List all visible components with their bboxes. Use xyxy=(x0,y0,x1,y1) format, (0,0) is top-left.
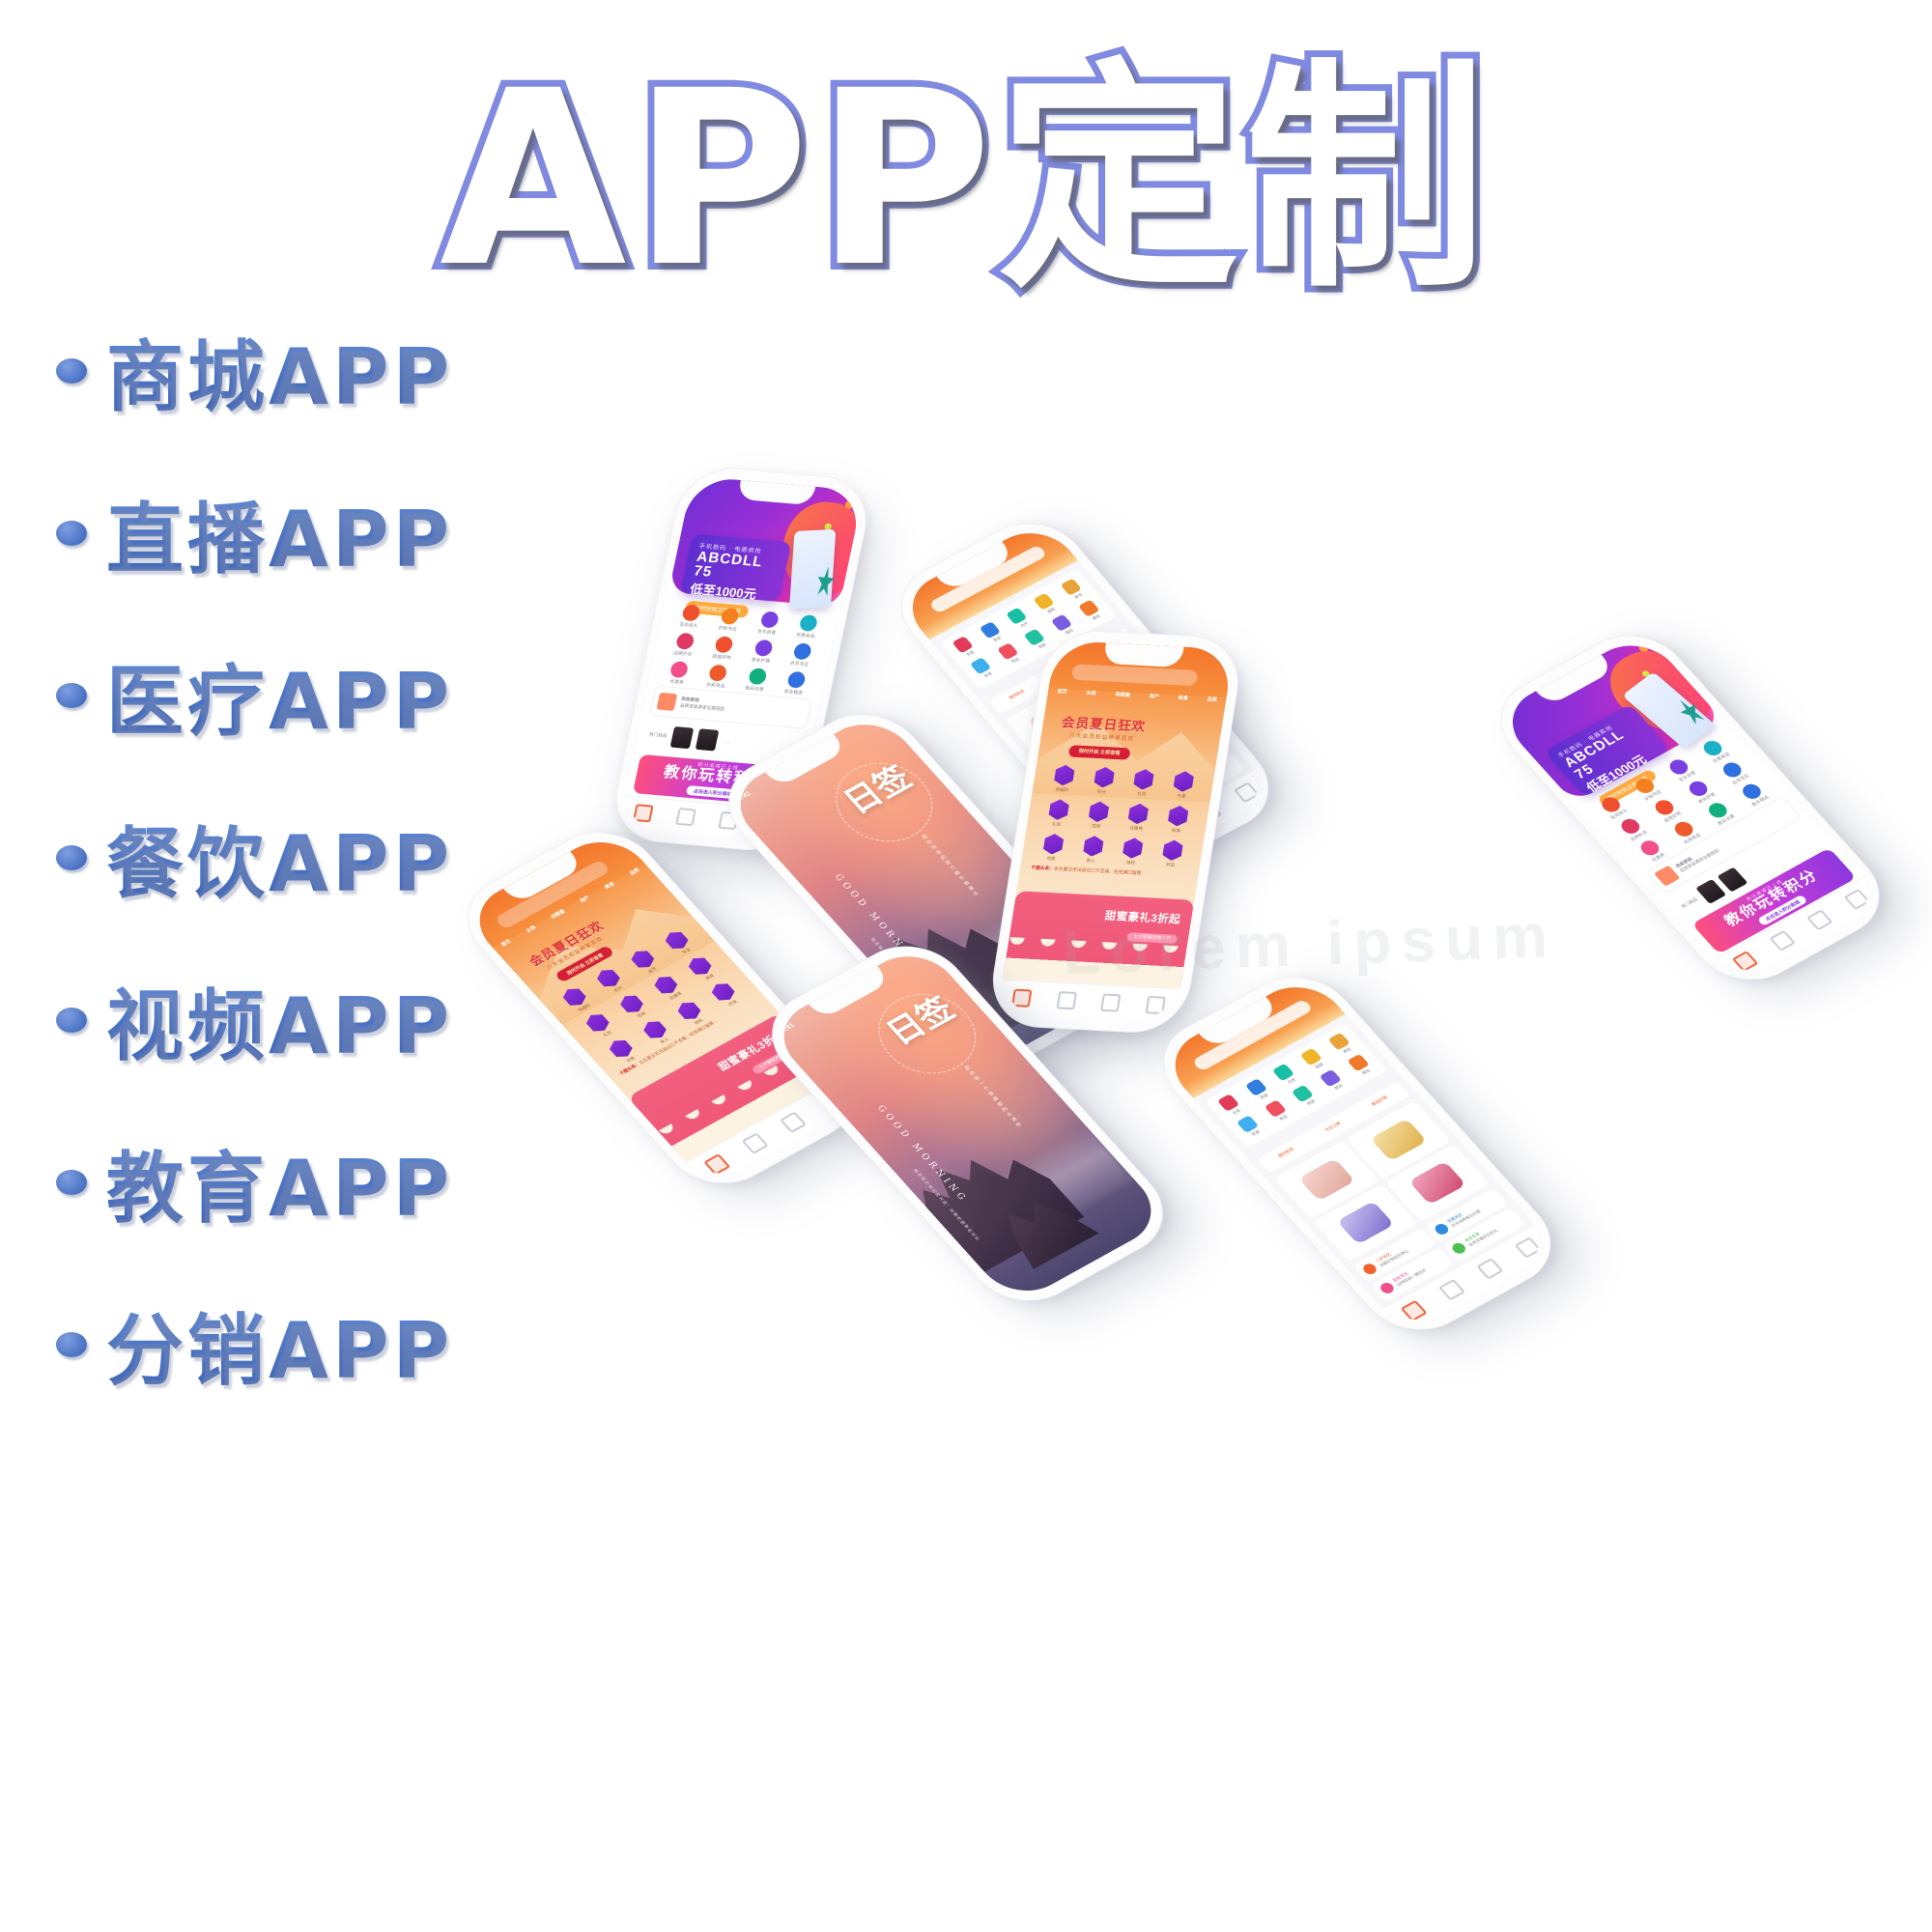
grid-item[interactable]: 数码优惠 xyxy=(735,667,777,694)
daily-verse: 愿你所有的努力都不被辜负 xyxy=(918,833,982,899)
member-grid: 领福利 积分 会员 专享 礼包 签到 优惠券 商城 兑换 新人 特权 好友 xyxy=(1032,764,1204,869)
more-icon[interactable]: ··· xyxy=(1743,866,1755,876)
promo-desc: 品质家装满足全屋搭配 xyxy=(679,703,724,712)
grid-item[interactable]: 更多精选 xyxy=(775,670,816,697)
tab-profile-icon[interactable] xyxy=(1145,996,1166,1014)
tab-item[interactable]: 首页 xyxy=(1057,688,1067,696)
grid-item[interactable]: 美妆护理 xyxy=(742,639,783,666)
strip-label[interactable]: 限时秒杀 xyxy=(1277,1147,1295,1159)
tab-cart-icon[interactable] xyxy=(741,1133,768,1154)
status-time: 9:41 xyxy=(780,1022,796,1034)
phone-screen: 手机数码 · 电器疯抢 ABCDLL 75 低至1000元 限时抢购立即查看 签… xyxy=(1494,632,1887,984)
grid-item[interactable]: 会员专区 xyxy=(781,641,822,668)
footer-promo-title: 甜蜜豪礼3折起 xyxy=(1104,911,1181,926)
grid-item[interactable]: 积分 xyxy=(1083,766,1124,797)
tab-item[interactable]: 女装 xyxy=(1086,689,1096,696)
grid-item[interactable]: 优惠券 xyxy=(658,660,699,687)
service-label: 教育APP xyxy=(106,1126,453,1238)
promo-title: 热卖家装 xyxy=(681,696,699,703)
tab-home-icon[interactable] xyxy=(633,804,654,822)
tab-category-icon[interactable] xyxy=(780,1112,807,1133)
page-title-wrapper: APP定制 xyxy=(0,56,1932,302)
phone-mockup-cluster: 手机数码 · 电器疯抢 ABCDLL 75 低至1000元 限时抢购立即查看 签… xyxy=(415,425,1922,1662)
hero-card[interactable]: 手机数码 · 电器疯抢 ABCDLL 75 低至1000元 限时抢购立即查看 xyxy=(680,533,792,602)
tab-profile-icon[interactable] xyxy=(1234,782,1260,804)
product-strip-label: 热门商品 xyxy=(1680,896,1699,909)
product-thumb[interactable] xyxy=(1695,879,1726,904)
grid-item[interactable]: 商城 xyxy=(1157,805,1199,836)
tab-cart-icon[interactable] xyxy=(1769,930,1796,952)
grid-item[interactable]: 会员 xyxy=(1122,768,1164,799)
daily-verse: 愿你每一个清晨都阳光满怀 xyxy=(960,1065,1025,1131)
bullet-icon xyxy=(56,845,87,870)
grid-item[interactable]: 优惠券 xyxy=(1117,803,1158,834)
news-text: 炎炎夏日无法逃过口干舌燥，吃完满口留香... xyxy=(1054,867,1146,876)
tab-home-icon[interactable] xyxy=(1732,951,1759,972)
tab-profile-icon[interactable] xyxy=(1843,889,1870,910)
footer-promo-sub: 七夕甜蜜送情人节 xyxy=(1126,932,1179,944)
grid-item[interactable]: 专享 xyxy=(1162,770,1204,801)
product-thumb[interactable] xyxy=(1717,867,1747,893)
tab-profile-icon[interactable] xyxy=(1514,1237,1541,1259)
grid-item[interactable]: 领福利 xyxy=(1043,764,1085,795)
poster-canvas: APP定制 商城APP 直播APP 医疗APP 餐饮APP 视频APP 教育AP… xyxy=(0,0,1932,1932)
tab-category-icon[interactable] xyxy=(1806,910,1833,931)
daily-title-en: GOOD MORNING xyxy=(875,1104,970,1205)
service-label: 分销APP xyxy=(106,1289,453,1401)
tab-cart-icon[interactable] xyxy=(1056,991,1077,1009)
service-label: 视频APP xyxy=(106,964,453,1076)
grid-item[interactable]: 热卖商品 xyxy=(696,664,738,691)
status-time: 9:41 xyxy=(736,790,753,802)
phone-screen: 女装 男装 内衣 鞋靴 美妆 家居 食品 母婴 数码 箱包 限时秒杀 今日上新 xyxy=(1156,973,1558,1334)
tab-item[interactable]: 母婴童 xyxy=(1115,691,1131,698)
product-thumb[interactable] xyxy=(696,729,720,752)
product-strip-label: 热门商品 xyxy=(648,732,668,739)
hero-cta[interactable]: 限时开启 立即查看 xyxy=(1067,745,1130,760)
product-thumb[interactable] xyxy=(670,726,695,749)
phone-frame: 手机数码 · 电器疯抢 ABCDLL 75 低至1000元 限时抢购立即查看 签… xyxy=(1478,618,1902,998)
strip-label[interactable]: 限时秒杀 xyxy=(1009,689,1027,701)
grid-item[interactable]: 好友 xyxy=(1151,839,1193,870)
grid-item[interactable]: 新人 xyxy=(1072,835,1114,866)
promo-thumb xyxy=(656,693,677,711)
grid-item[interactable]: 品牌秒杀 xyxy=(664,632,705,659)
tab-cart-icon[interactable] xyxy=(1438,1279,1465,1300)
service-label: 餐饮APP xyxy=(106,802,453,914)
hero-block: 会员夏日狂欢 八大会员权益畅享狂欢 限时开启 立即查看 xyxy=(1050,716,1152,761)
service-label: 医疗APP xyxy=(106,639,453,752)
tab-category-icon[interactable] xyxy=(1476,1258,1503,1279)
grid-item[interactable]: 签到 xyxy=(1077,801,1119,832)
phone-frame: 女装 男装 内衣 鞋靴 美妆 家居 食品 母婴 数码 箱包 限时秒杀 今日上新 xyxy=(1140,959,1575,1348)
tab-cart-icon[interactable] xyxy=(675,808,696,826)
bullet-icon xyxy=(56,1170,87,1195)
bullet-icon xyxy=(56,521,87,546)
quick-entry-grid: 签到有礼 护肤专区 京东自营 优惠商品 品牌秒杀 超值好物 美妆护理 会员专区 … xyxy=(658,603,829,696)
service-label: 商城APP xyxy=(106,315,453,427)
grid-item[interactable]: 优惠商品 xyxy=(786,613,828,640)
footer-promo[interactable]: 甜蜜豪礼3折起 七夕甜蜜送情人节 xyxy=(1003,891,1195,989)
promo-thumb xyxy=(1654,866,1681,887)
tab-home-icon[interactable] xyxy=(1011,989,1033,1008)
grid-item[interactable]: 京东自营 xyxy=(748,610,789,637)
service-label: 直播APP xyxy=(106,477,453,589)
grid-item[interactable]: 礼包 xyxy=(1037,798,1079,829)
grid-item[interactable]: 护肤专区 xyxy=(709,607,751,634)
strip-label[interactable]: 今日上新 xyxy=(1323,1121,1342,1133)
tab-item[interactable]: 品质 xyxy=(1207,696,1217,703)
grid-item[interactable]: 兑换 xyxy=(1032,833,1073,864)
tab-home-icon[interactable] xyxy=(703,1154,730,1176)
more-icon[interactable]: ··· xyxy=(723,737,732,747)
bullet-icon xyxy=(56,1008,87,1033)
grid-item[interactable]: 超值好物 xyxy=(702,635,744,662)
tab-item[interactable]: 海产 xyxy=(1149,693,1159,700)
page-title: APP定制 xyxy=(440,56,1492,302)
tab-category-icon[interactable] xyxy=(1100,993,1122,1011)
tab-item[interactable]: 美食 xyxy=(1178,694,1188,701)
grid-item[interactable]: 签到有礼 xyxy=(669,603,711,630)
bullet-icon xyxy=(56,1332,87,1357)
bullet-icon xyxy=(56,683,87,708)
notch xyxy=(809,966,891,1019)
product-image xyxy=(789,528,837,608)
bullet-icon xyxy=(56,358,87,384)
grid-item[interactable]: 特权 xyxy=(1112,837,1153,867)
news-prefix: 千图头条： xyxy=(1031,865,1055,870)
strip-label[interactable]: 精选好物 xyxy=(1371,1095,1389,1108)
tab-home-icon[interactable] xyxy=(1400,1300,1427,1321)
